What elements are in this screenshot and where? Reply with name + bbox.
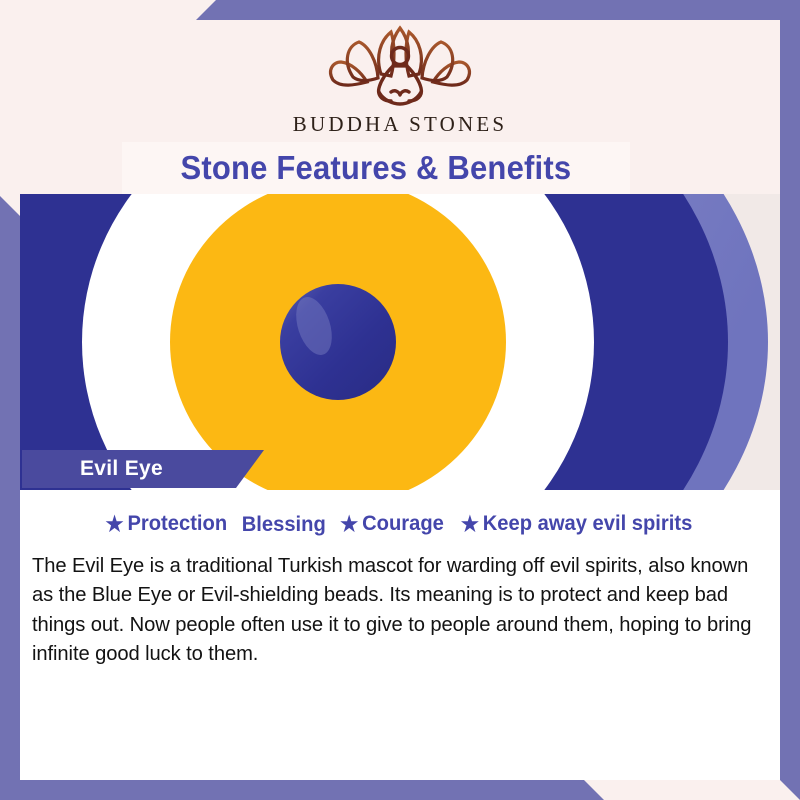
benefit-courage: ★ Courage xyxy=(340,512,444,536)
benefit-label: Keep away evil spirits xyxy=(482,512,692,536)
benefit-label: Protection xyxy=(128,512,228,536)
frame-bottom-band xyxy=(0,780,800,800)
page-title: Stone Features & Benefits xyxy=(181,149,572,187)
content-panel: ★ Protection Blessing ★ Courage ★ Keep a… xyxy=(20,490,780,780)
star-icon: ★ xyxy=(106,514,124,535)
star-icon: ★ xyxy=(460,514,478,535)
star-icon: ★ xyxy=(340,514,358,535)
benefit-label: Courage xyxy=(362,512,444,536)
ribbon-label: Evil Eye xyxy=(22,457,163,481)
section-title-bar: Stone Features & Benefits xyxy=(122,142,630,194)
description-text: The Evil Eye is a traditional Turkish ma… xyxy=(32,551,757,669)
frame-top-band xyxy=(0,0,800,20)
brand-logo-block: BUDDHA STONES xyxy=(0,22,800,137)
lotus-meditation-figure-icon xyxy=(315,22,485,108)
benefits-list: ★ Protection Blessing ★ Courage ★ Keep a… xyxy=(20,490,780,537)
hero-image xyxy=(20,194,780,490)
benefit-keep-away-evil-spirits: ★ Keep away evil spirits xyxy=(460,512,691,536)
benefit-label: Blessing xyxy=(242,513,326,537)
evil-eye-bead-graphic xyxy=(20,194,780,490)
benefit-protection: ★ Protection xyxy=(106,512,228,536)
ribbon-evil-eye: Evil Eye xyxy=(22,450,264,488)
product-feature-poster: BUDDHA STONES Stone Features & Benefits xyxy=(0,0,800,800)
benefit-blessing: Blessing xyxy=(242,513,326,537)
brand-wordmark: BUDDHA STONES xyxy=(0,112,800,137)
